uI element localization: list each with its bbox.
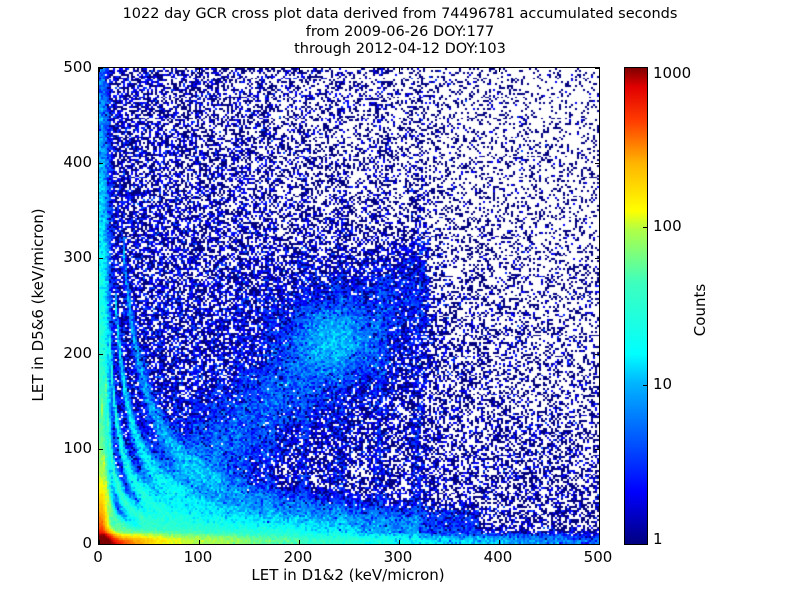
y-tick-400 [99, 163, 103, 164]
x-tick-300 [399, 540, 400, 544]
colorbar [624, 67, 648, 545]
y-tick-label-100: 100 [63, 439, 92, 457]
x-tick-top-200 [299, 68, 300, 72]
x-tick-label-500: 500 [584, 548, 613, 566]
plot-title: 1022 day GCR cross plot data derived fro… [0, 6, 800, 59]
y-tick-right-400 [595, 163, 599, 164]
y-tick-right-500 [595, 68, 599, 69]
colorbar-tick-100 [643, 227, 647, 228]
x-tick-label-0: 0 [93, 548, 103, 566]
colorbar-tick-10 [643, 385, 647, 386]
colorbar-tick-label-10: 10 [653, 375, 672, 393]
title-line-1: 1022 day GCR cross plot data derived fro… [0, 6, 800, 24]
scatter-heatmap-canvas [99, 68, 599, 544]
title-line-2: from 2009-06-26 DOY:177 [0, 24, 800, 42]
x-tick-500 [599, 540, 600, 544]
x-tick-top-400 [499, 68, 500, 72]
x-tick-label-300: 300 [384, 548, 413, 566]
x-tick-label-400: 400 [484, 548, 513, 566]
y-tick-300 [99, 258, 103, 259]
y-tick-label-0: 0 [82, 534, 92, 552]
y-tick-label-400: 400 [63, 153, 92, 171]
plot-area [98, 67, 600, 545]
title-line-3: through 2012-04-12 DOY:103 [0, 41, 800, 59]
y-axis-label: LET in D5&6 (keV/micron) [29, 208, 47, 401]
y-tick-200 [99, 354, 103, 355]
y-tick-500 [99, 68, 103, 69]
x-tick-top-300 [399, 68, 400, 72]
y-tick-right-100 [595, 449, 599, 450]
x-axis-label: LET in D1&2 (keV/micron) [98, 566, 598, 584]
y-tick-0 [99, 544, 103, 545]
y-tick-right-0 [595, 544, 599, 545]
x-tick-top-500 [599, 68, 600, 72]
y-tick-100 [99, 449, 103, 450]
x-tick-top-100 [199, 68, 200, 72]
y-tick-label-300: 300 [63, 248, 92, 266]
y-tick-right-300 [595, 258, 599, 259]
x-tick-200 [299, 540, 300, 544]
x-tick-label-200: 200 [284, 548, 313, 566]
x-tick-400 [499, 540, 500, 544]
y-tick-label-200: 200 [63, 344, 92, 362]
y-tick-right-200 [595, 354, 599, 355]
colorbar-tick-label-100: 100 [653, 217, 682, 235]
x-tick-label-100: 100 [184, 548, 213, 566]
colorbar-tick-label-1: 1 [653, 530, 663, 548]
colorbar-gradient [625, 68, 647, 544]
colorbar-label: Counts [691, 284, 709, 336]
x-tick-100 [199, 540, 200, 544]
colorbar-tick-label-1000: 1000 [653, 64, 691, 82]
figure-canvas: 1022 day GCR cross plot data derived fro… [0, 0, 800, 600]
y-tick-label-500: 500 [63, 58, 92, 76]
